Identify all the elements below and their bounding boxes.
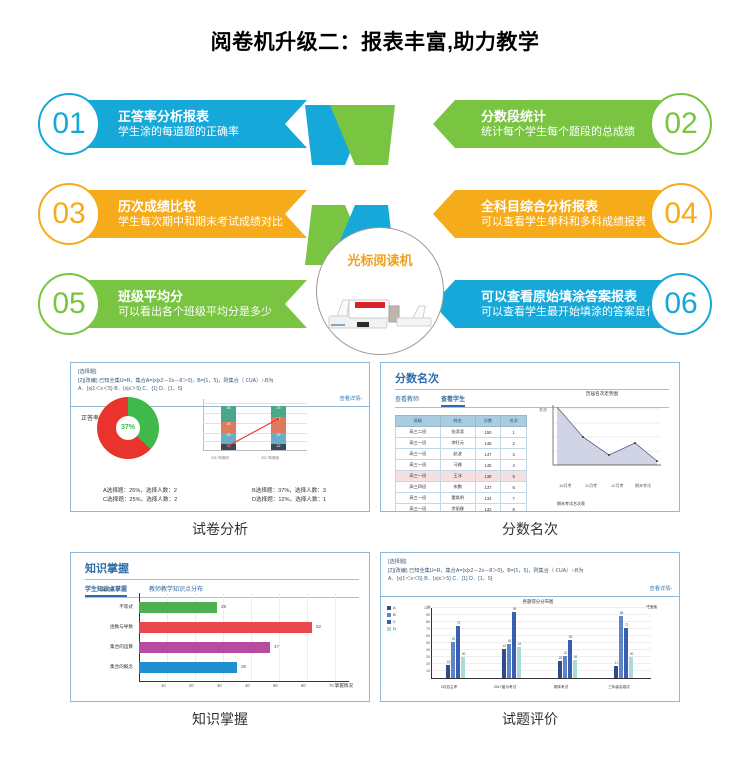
feature-badge-02: 02 (650, 93, 712, 155)
knowledge-label-3: 集合的概念 (87, 664, 133, 670)
table-header-row: 班级 姓名 分数 名次 (396, 416, 527, 427)
feature-sub-04: 可以查看学生单科和多科成绩报表 (481, 215, 668, 230)
knowledge-screenshot[interactable]: 知识掌握 学生知识点掌握 教师教学知识点分布 知识点 (70, 552, 370, 702)
feature-badge-06: 06 (650, 273, 712, 335)
knowledge-bar-chart: 知识点 不等式 28 函数与导数 (87, 601, 355, 685)
knowledge-xtick-4: 50 (273, 683, 278, 688)
item-question-line-1: [2](改编) 已知全集U=R，集合A={x|x2－2x－8＞0}，B={1，5… (388, 567, 672, 575)
mini-xlabel-1: 2017年期中 (211, 456, 229, 461)
item-eval-bar-chart: 各题得分分布图 难度值 % 10 20 30 40 50 60 70 80 90… (415, 599, 661, 691)
area-chart-axis-title: 期末考试名次表 (557, 501, 585, 507)
item-eval-chart-title: 各题得分分布图 (415, 599, 661, 605)
item-eval-xtick-2: 期末考试 (535, 685, 587, 690)
legend-label-d: D (393, 626, 396, 631)
feature-banner-05[interactable]: 班级平均分 可以看出各个班级平均分是多少 (82, 280, 307, 328)
legend-swatch-c (387, 620, 391, 624)
feature-badge-04: 04 (650, 183, 712, 245)
feature-title-05: 班级平均分 (118, 288, 307, 305)
area-chart-svg (539, 399, 665, 479)
knowledge-xtick-1: 20 (189, 683, 194, 688)
table-row: 高三一班马娜1454 (396, 460, 527, 471)
feature-banner-02[interactable]: 分数段统计 统计每个学生每个题段的总成绩 (433, 100, 668, 148)
knowledge-label-0: 不等式 (87, 604, 133, 610)
item-view-detail-link[interactable]: 查看详情› (388, 585, 672, 593)
feature-banner-01[interactable]: 正答率分析报表 学生涂的每道题的正确率 (82, 100, 307, 148)
feature-sub-02: 统计每个学生每个题段的总成绩 (481, 125, 668, 140)
yt-40: 40 (420, 648, 430, 652)
legend-swatch-b (387, 613, 391, 617)
bar-group-0: 18 52 75 30 (446, 626, 465, 679)
table-row: 高三一班王冰1385 (396, 471, 527, 482)
panel-caption-knowledge: 知识掌握 (70, 709, 370, 729)
score-rank-heading: 分数名次 (395, 370, 679, 386)
item-question-tag: [选择题] (388, 558, 672, 566)
knowledge-xtick-6: 70 (329, 683, 334, 688)
knowledge-tabs: 学生知识点掌握 教师教学知识点分布 (71, 580, 369, 597)
knowledge-xlabel: 掌握情况 (335, 683, 353, 689)
item-question-header: [选择题] [2](改编) 已知全集U=R，集合A={x|x2－2x－8＞0}，… (381, 553, 679, 597)
feature-title-03: 历次成绩比较 (118, 198, 307, 215)
knowledge-label-2: 集合的运算 (87, 644, 133, 650)
col-name: 姓名 (440, 416, 475, 427)
legend-label-a: A (393, 605, 396, 610)
panel-exam-analysis: [选择题] [2](改编) 已知全集U=R，集合A={x|x2－2x－8＞0}，… (70, 362, 370, 539)
panel-score-rank: 分数名次 查看教师 查看学生 班级 姓名 分数 名次 (380, 362, 680, 539)
question-line-1: [2](改编) 已知全集U=R，集合A={x|x2－2x－8＞0}，B={1，5… (78, 377, 362, 385)
scanner-machine-icon (327, 286, 435, 332)
knowledge-heading: 知识掌握 (85, 560, 369, 576)
yt-10: 10 (420, 669, 430, 673)
knowledge-bar-row: 集合的概念 35 (87, 661, 355, 676)
legend-swatch-d (387, 627, 391, 631)
option-stat-a: A选择题：25%，选择人数：2 (71, 487, 220, 496)
feature-badge-03: 03 (38, 183, 100, 245)
yt-50: 50 (420, 641, 430, 645)
table-row: 高三一班董焕明1347 (396, 493, 527, 504)
exam-analysis-screenshot[interactable]: [选择题] [2](改编) 已知全集U=R，集合A={x|x2－2x－8＞0}，… (70, 362, 370, 512)
legend-label-c: C (393, 619, 396, 624)
item-question-line-2: A．{x|1＜x＜5} B．{x|x＞5} C．{1} D．{1，5} (388, 575, 672, 583)
feature-sub-05: 可以看出各个班级平均分是多少 (118, 305, 307, 320)
feature-title-04: 全科目综合分析报表 (481, 198, 668, 215)
bar-group-2: 25 32 55 26 (558, 640, 577, 679)
knowledge-value-3: 35 (241, 664, 246, 669)
knowledge-bar-row: 函数与导数 62 (87, 621, 355, 636)
area-chart-title: 历届名次走势图 (539, 391, 665, 397)
area-x-tick-1: 10月考 (559, 483, 571, 489)
legend-swatch-a (387, 606, 391, 610)
feature-title-01: 正答率分析报表 (118, 108, 307, 125)
knowledge-ylabel: 知识点 (101, 587, 115, 593)
feature-banner-04[interactable]: 全科目综合分析报表 可以查看学生单科和多科成绩报表 (433, 190, 668, 238)
knowledge-header: 知识掌握 (71, 553, 369, 580)
table-row: 高三二班张滨滨1501 (396, 427, 527, 438)
knowledge-xtick-2: 30 (217, 683, 222, 688)
item-eval-xtick-0: 2月自主考 (423, 685, 475, 690)
trend-stacked-chart: 38 25 25 12 26 37 25 12 (189, 399, 309, 461)
area-x-tick-4: 期末考试 (635, 483, 651, 489)
table-row: 高三一班余丽娜1328 (396, 504, 527, 513)
table-row: 高三四班宋鹏1376 (396, 482, 527, 493)
tab-view-student[interactable]: 查看学生 (441, 394, 465, 407)
table-row: 高三一班李旺元1482 (396, 438, 527, 449)
item-eval-screenshot[interactable]: [选择题] [2](改编) 已知全集U=R，集合A={x|x2－2x－8＞0}，… (380, 552, 680, 702)
feature-sub-03: 学生每次期中和期末考试成绩对比 (118, 215, 307, 230)
col-class: 班级 (396, 416, 441, 427)
col-rank: 名次 (501, 416, 527, 427)
item-eval-legend: A B C D (387, 605, 396, 633)
question-tag: [选择题] (78, 368, 362, 376)
center-label: 光标阅读机 (317, 250, 443, 269)
page-title: 阅卷机升级二：报表丰富,助力教学 (0, 26, 750, 56)
panel-knowledge: 知识掌握 学生知识点掌握 教师教学知识点分布 知识点 (70, 552, 370, 729)
feature-banner-06[interactable]: 可以查看原始填涂答案报表 可以查看学生最开始填涂的答案是什么 (433, 280, 668, 328)
option-stat-c: C选择题：25%，选择人数：2 (71, 496, 220, 505)
option-stat-d: D选择题：12%，选择人数：1 (220, 496, 369, 505)
bar-group-1: 42 48 95 44 (502, 612, 521, 679)
yt-60: 60 (420, 634, 430, 638)
yt-80: 80 (420, 620, 430, 624)
col-score: 分数 (475, 416, 501, 427)
feature-diagram: 01 正答率分析报表 学生涂的每道题的正确率 02 分数段统计 统计每个学生每个… (0, 75, 750, 360)
feature-title-06: 可以查看原始填涂答案报表 (481, 288, 668, 305)
area-x-tick-2: 11月考 (585, 483, 597, 489)
score-rank-table: 班级 姓名 分数 名次 高三二班张滨滨1501 高三一班李旺元1482 高三一班… (395, 415, 527, 512)
score-rank-header: 分数名次 (381, 363, 679, 390)
knowledge-xtick-0: 10 (161, 683, 166, 688)
item-eval-plot-area: 10 20 30 40 50 60 70 80 90 100 18 52 (431, 608, 651, 679)
knowledge-label-1: 函数与导数 (87, 624, 133, 630)
yt-100: 100 (420, 606, 430, 610)
feature-sub-01: 学生涂的每道题的正确率 (118, 125, 307, 140)
rank-trend-area-chart: 历届名次走势图 名次 (539, 391, 665, 495)
feature-badge-01: 01 (38, 93, 100, 155)
bar-group-3: 17 88 72 30 (614, 616, 633, 678)
center-circle: 光标阅读机 (316, 227, 444, 355)
yt-90: 90 (420, 613, 430, 617)
feature-sub-06: 可以查看学生最开始填涂的答案是什么 (481, 305, 668, 320)
panel-caption-exam-analysis: 试卷分析 (70, 519, 370, 539)
knowledge-value-1: 62 (316, 624, 321, 629)
tab-view-teacher[interactable]: 查看教师 (395, 394, 419, 407)
panel-item-eval: [选择题] [2](改编) 已知全集U=R，集合A={x|x2－2x－8＞0}，… (380, 552, 680, 729)
trend-line (189, 399, 309, 461)
feature-banner-03[interactable]: 历次成绩比较 学生每次期中和期末考试成绩对比 (82, 190, 307, 238)
area-x-tick-3: 12月考 (611, 483, 623, 489)
knowledge-value-2: 47 (274, 644, 279, 649)
knowledge-xtick-5: 60 (301, 683, 306, 688)
score-rank-screenshot[interactable]: 分数名次 查看教师 查看学生 班级 姓名 分数 名次 (380, 362, 680, 512)
legend-label-b: B (393, 612, 396, 617)
screenshot-panels: [选择题] [2](改编) 已知全集U=R，集合A={x|x2－2x－8＞0}，… (0, 362, 750, 757)
feature-title-02: 分数段统计 (481, 108, 668, 125)
yt-30: 30 (420, 655, 430, 659)
panel-caption-item-eval: 试题评价 (380, 709, 680, 729)
knowledge-value-0: 28 (221, 604, 226, 609)
feature-badge-05: 05 (38, 273, 100, 335)
option-stat-b: B选择题：37%，选择人数：3 (220, 487, 369, 496)
donut-center-value: 37% (97, 397, 159, 459)
item-eval-xtick-3: 三年级名卷试 (591, 685, 647, 690)
infographic-page: 阅卷机升级二：报表丰富,助力教学 01 正答率分析报表 学生涂的每道题的正确率 … (0, 0, 750, 757)
knowledge-xtick-3: 40 (245, 683, 250, 688)
knowledge-bar-row: 集合的运算 47 (87, 641, 355, 656)
item-eval-xtick-1: 2017届月考试 (479, 685, 531, 690)
question-line-2: A．{x|1＜x＜5} B．{x|x＞5} C．{1} D．{1，5} (78, 385, 362, 393)
yt-20: 20 (420, 662, 430, 666)
option-stats: A选择题：25%，选择人数：2 B选择题：37%，选择人数：3 C选择题：25%… (71, 487, 369, 505)
knowledge-bar-row: 不等式 28 (87, 601, 355, 616)
yt-70: 70 (420, 627, 430, 631)
mini-xlabel-2: 2017年期末 (261, 456, 279, 461)
panel-caption-score-rank: 分数名次 (380, 519, 680, 539)
table-row: 高三一班赵波1473 (396, 449, 527, 460)
